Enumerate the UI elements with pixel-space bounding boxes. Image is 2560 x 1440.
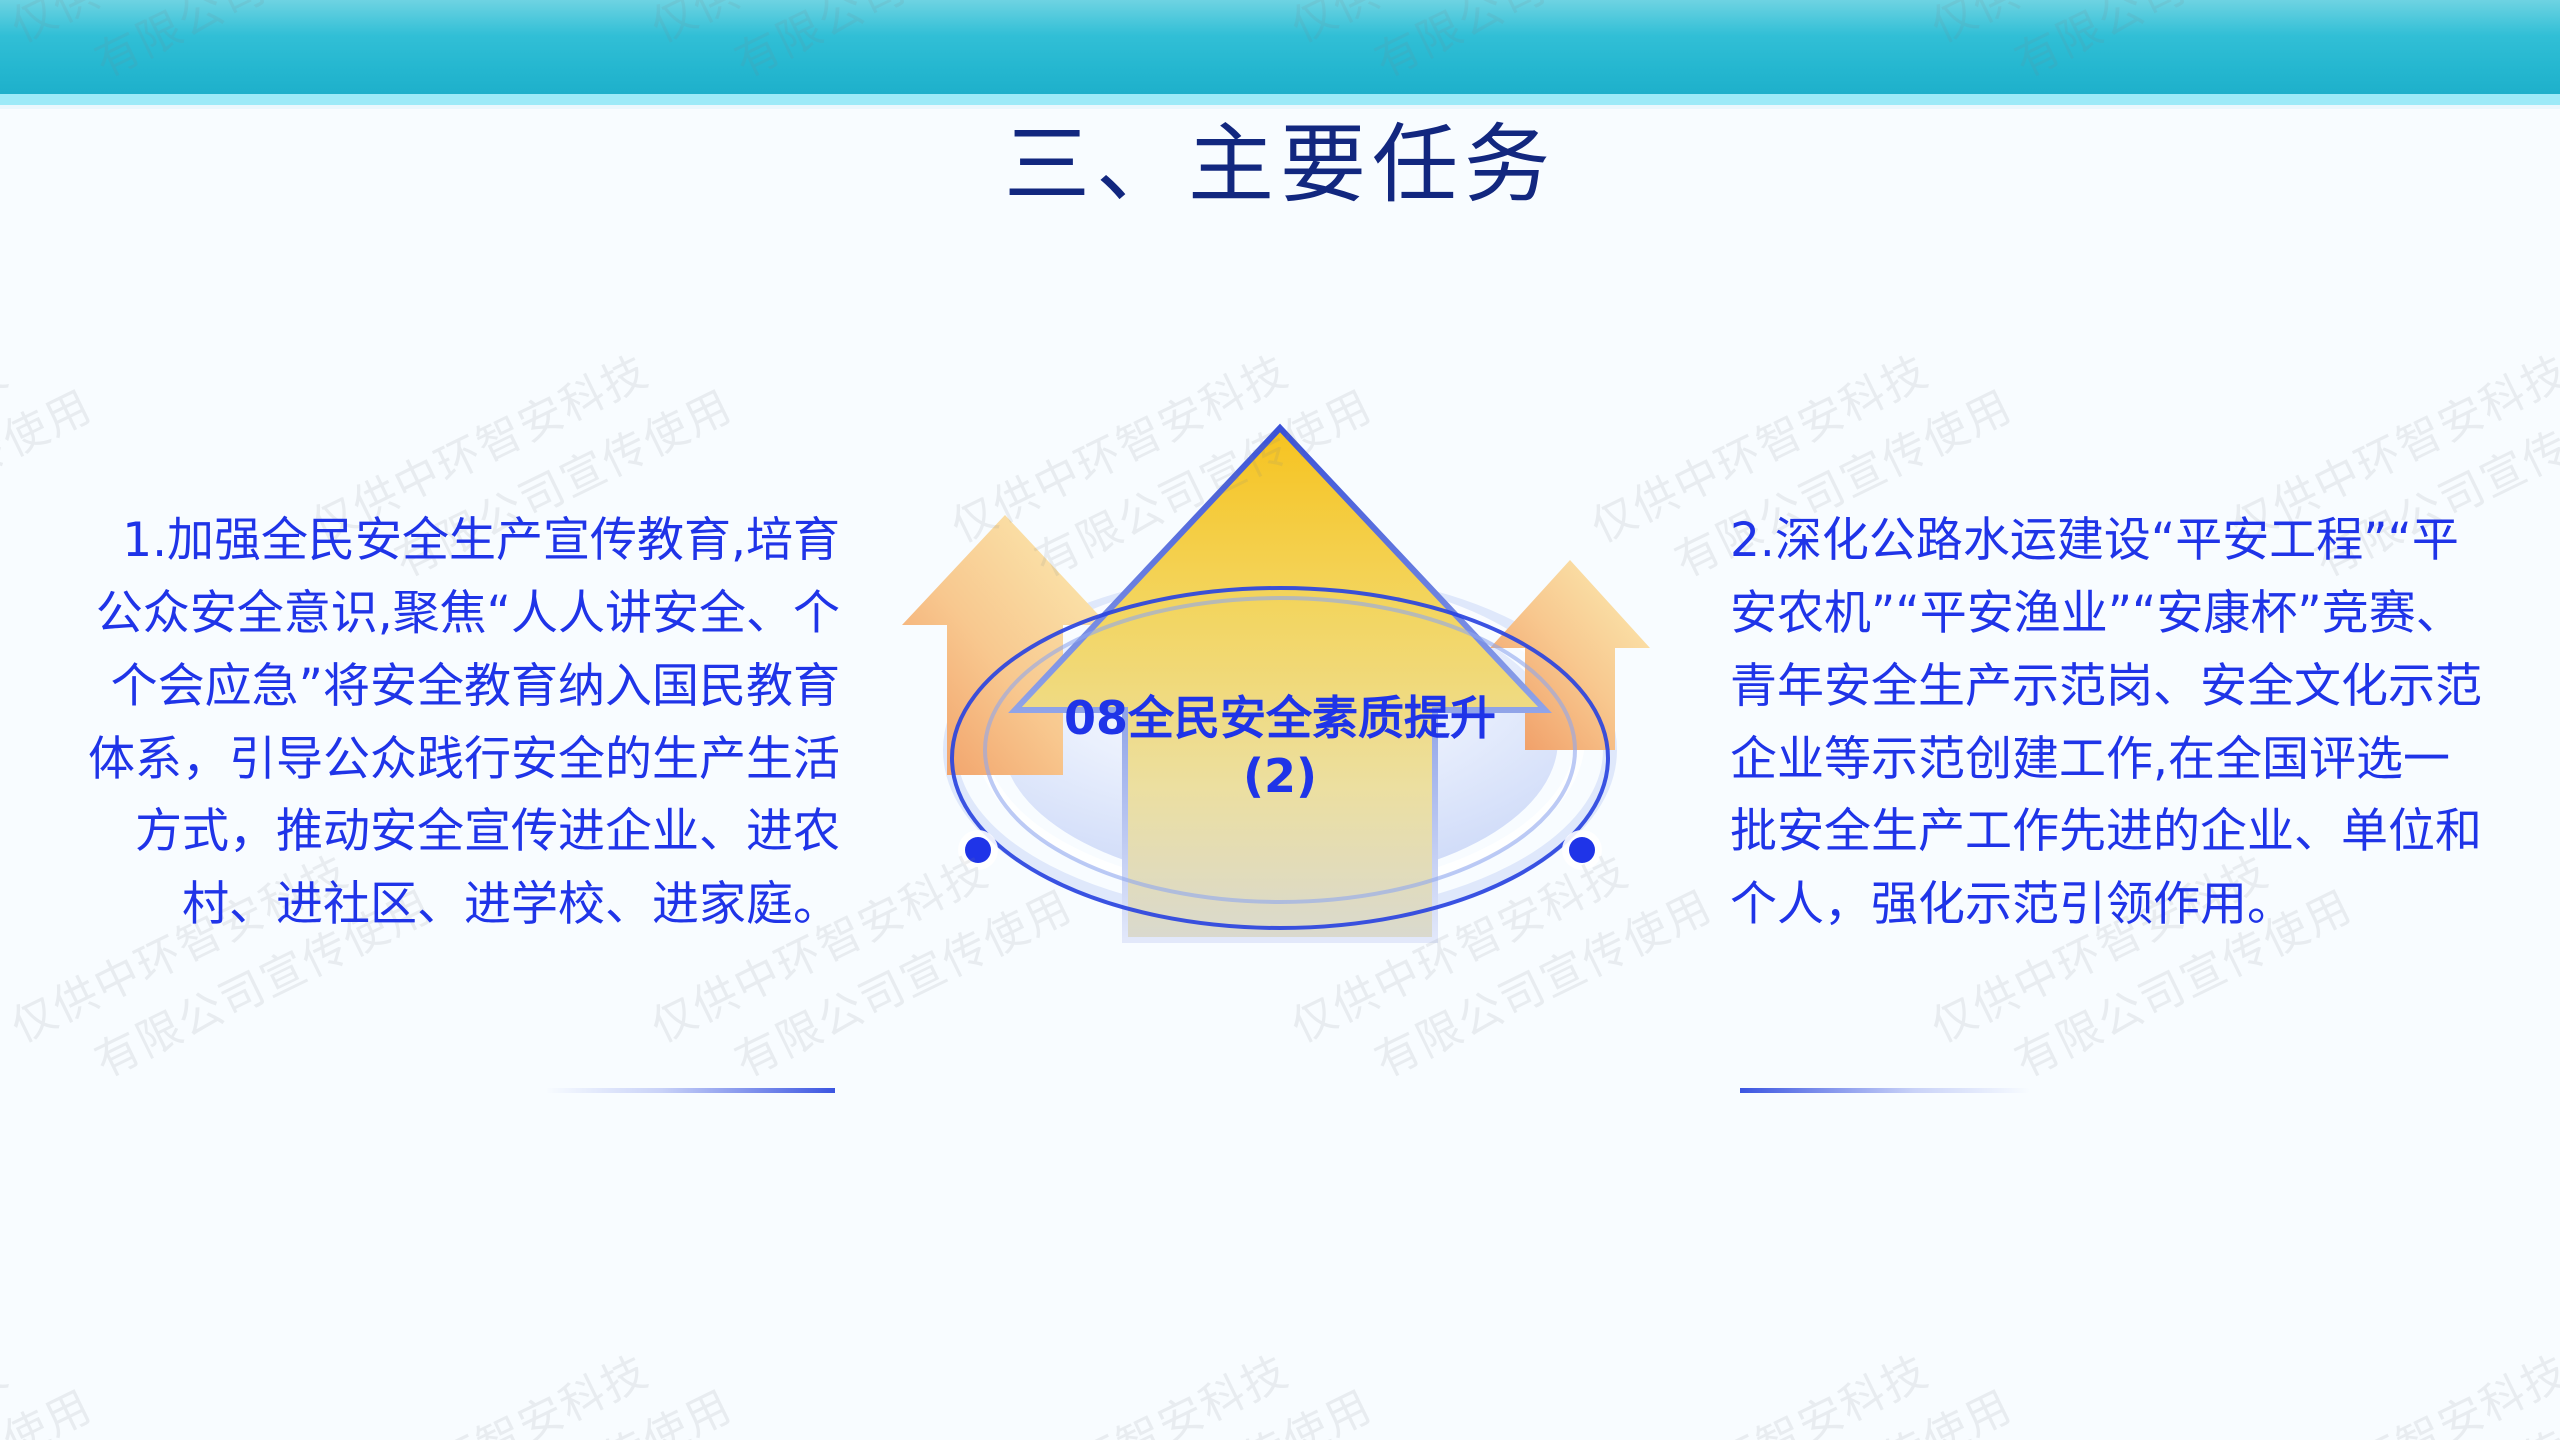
task-text-right: 2.深化公路水运建设“平安工程”“平安农机”“平安渔业”“安康杯”竞赛、青年安全… [1730,505,2490,942]
watermark-text: 仅供中环智安科技有限公司宣传使用 [2220,1312,2560,1440]
task-text-left: 1.加强全民安全生产宣传教育,培育公众安全意识,聚焦“人人讲安全、个个会应急”将… [80,505,840,942]
watermark-text: 仅供中环智安科技有限公司宣传使用 [0,1312,104,1440]
task-column-left: 1.加强全民安全生产宣传教育,培育公众安全意识,聚焦“人人讲安全、个个会应急”将… [80,505,840,942]
watermark-text: 仅供中环智安科技有限公司宣传使用 [1580,1312,2024,1440]
center-label-line-2: (2) [930,748,1630,806]
presentation-slide: 三、主要任务 [0,0,2560,1440]
task-column-right: 2.深化公路水运建设“平安工程”“平安农机”“平安渔业”“安康杯”竞赛、青年安全… [1730,505,2490,942]
watermark-text: 仅供中环智安科技有限公司宣传使用 [300,1312,744,1440]
page-title: 三、主要任务 [0,116,2560,215]
divider-left [545,1088,835,1093]
header-underline [0,105,2560,109]
divider-right [1740,1088,2030,1093]
header-band [0,0,2560,94]
header-accent-strip [0,94,2560,105]
center-label-line-1: 08全民安全素质提升 [930,690,1630,748]
watermark-text: 仅供中环智安科技有限公司宣传使用 [940,1312,1384,1440]
center-label: 08全民安全素质提升 (2) [930,690,1630,805]
orbit-dot-left-core [965,837,991,863]
orbit-dot-right-core [1569,837,1595,863]
